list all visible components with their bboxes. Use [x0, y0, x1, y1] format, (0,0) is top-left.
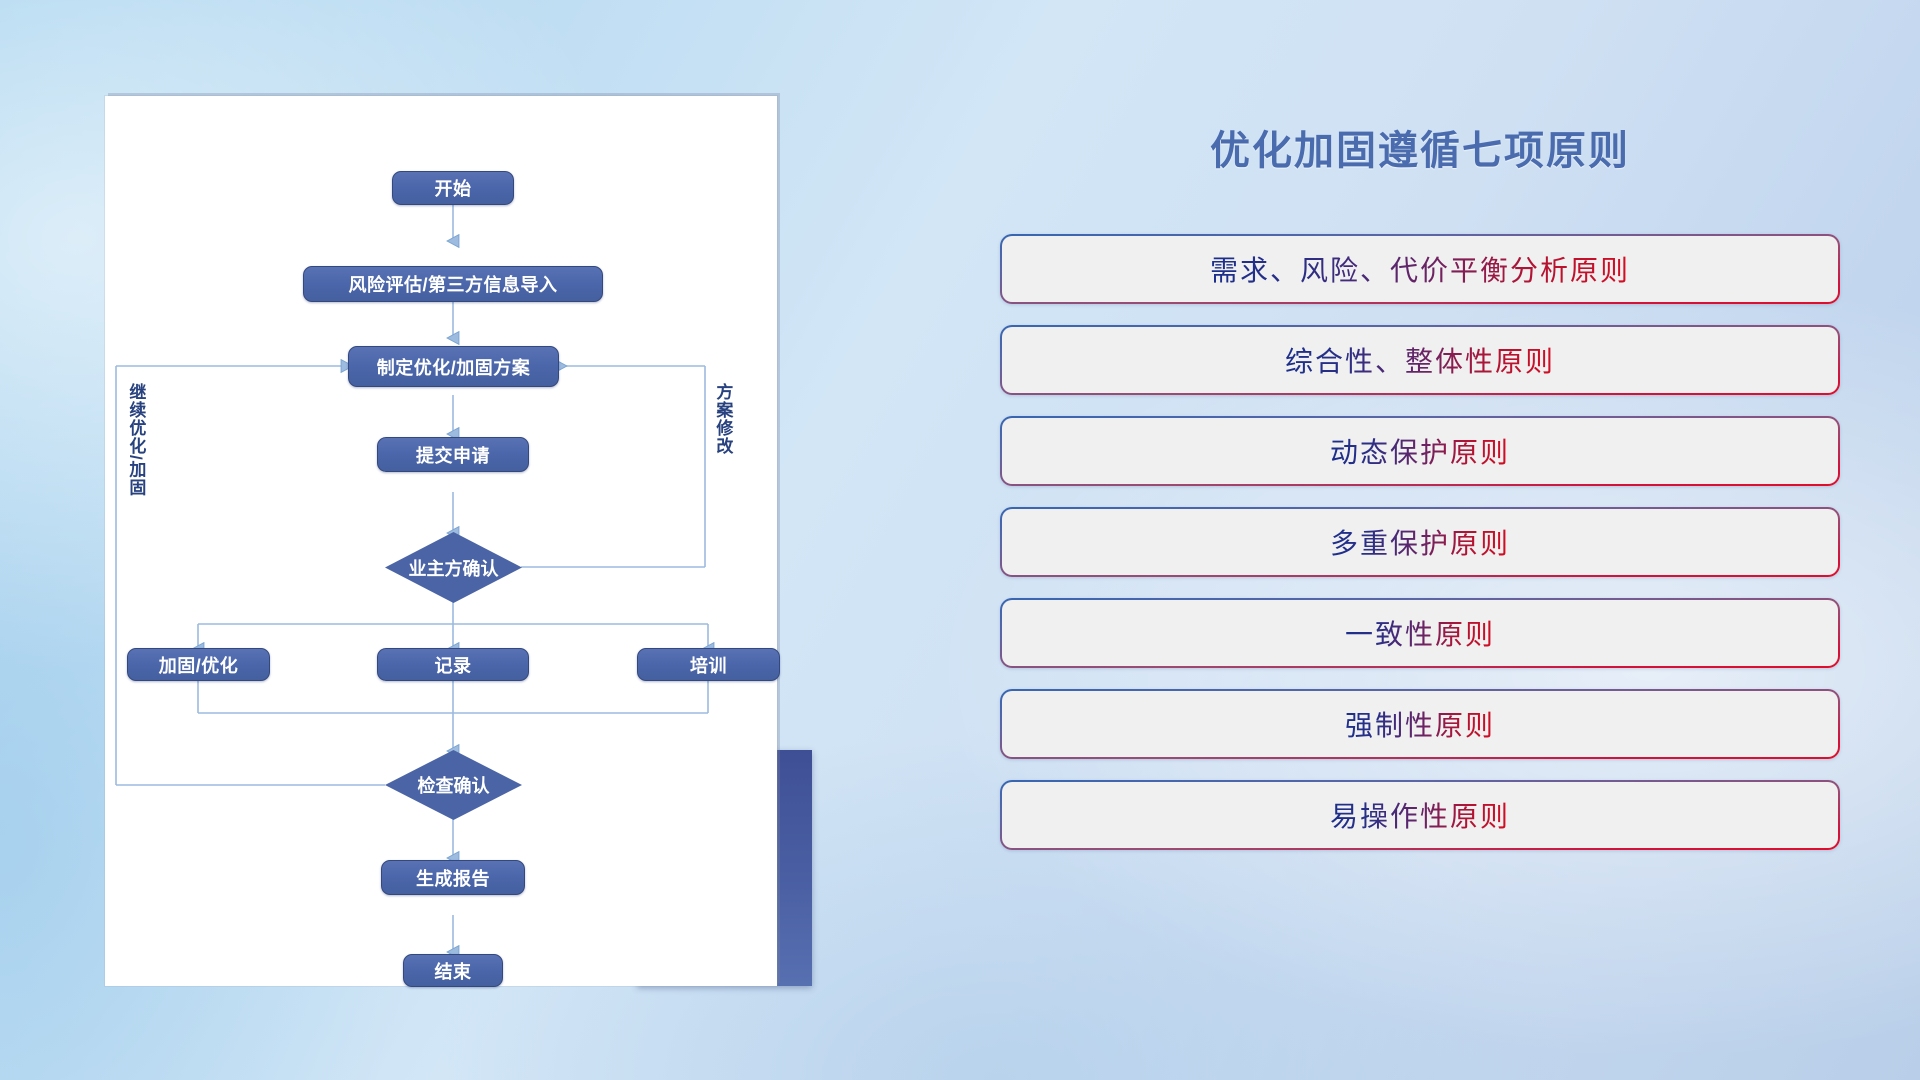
principle-card-inner: 动态保护原则	[1002, 418, 1838, 484]
flowchart-paper: 开始 风险评估/第三方信息导入 制定优化/加固方案 提交申请 业主方确认 加固/…	[105, 96, 777, 986]
principle-card[interactable]: 易操作性原则	[1000, 780, 1840, 850]
principles-list: 需求、风险、代价平衡分析原则 综合性、整体性原则 动态保护原则 多重保护原则	[1000, 234, 1840, 850]
principle-card[interactable]: 多重保护原则	[1000, 507, 1840, 577]
flow-node-risk-assessment-label: 风险评估/第三方信息导入	[349, 271, 558, 297]
principle-label: 需求、风险、代价平衡分析原则	[1210, 249, 1630, 289]
flow-edge-label-continue-optimize: 继续优化/加固	[127, 383, 144, 497]
panel-title: 优化加固遵循七项原则	[1000, 118, 1840, 176]
principle-label: 一致性原则	[1345, 613, 1495, 653]
flow-node-record[interactable]: 记录	[377, 648, 529, 681]
flow-node-make-plan[interactable]: 制定优化/加固方案	[348, 346, 559, 387]
slide-canvas: 开始 风险评估/第三方信息导入 制定优化/加固方案 提交申请 业主方确认 加固/…	[0, 0, 1920, 1080]
flow-decision-check-confirm-label: 检查确认	[418, 772, 490, 798]
principle-card[interactable]: 需求、风险、代价平衡分析原则	[1000, 234, 1840, 304]
flow-node-training-label: 培训	[690, 652, 727, 678]
flow-node-record-label: 记录	[435, 652, 472, 678]
flow-node-generate-report[interactable]: 生成报告	[381, 860, 525, 895]
flow-node-reinforce-optimize[interactable]: 加固/优化	[127, 648, 270, 681]
principle-card[interactable]: 一致性原则	[1000, 598, 1840, 668]
principle-label: 强制性原则	[1345, 704, 1495, 744]
flow-edge-label-plan-revision: 方案修改	[714, 383, 731, 455]
principle-card[interactable]: 动态保护原则	[1000, 416, 1840, 486]
principle-card-inner: 多重保护原则	[1002, 509, 1838, 575]
flow-decision-owner-confirm[interactable]: 业主方确认	[385, 532, 522, 603]
flow-node-end[interactable]: 结束	[403, 954, 503, 987]
flow-node-start[interactable]: 开始	[392, 171, 514, 205]
principle-card[interactable]: 综合性、整体性原则	[1000, 325, 1840, 395]
flow-node-submit-application-label: 提交申请	[416, 442, 490, 468]
principle-label: 多重保护原则	[1330, 522, 1510, 562]
flow-node-submit-application[interactable]: 提交申请	[377, 437, 529, 472]
flow-node-risk-assessment[interactable]: 风险评估/第三方信息导入	[303, 266, 603, 302]
flow-node-generate-report-label: 生成报告	[416, 865, 490, 891]
flow-node-end-label: 结束	[435, 958, 472, 984]
flowchart: 开始 风险评估/第三方信息导入 制定优化/加固方案 提交申请 业主方确认 加固/…	[105, 96, 777, 986]
flow-decision-owner-confirm-label: 业主方确认	[409, 555, 499, 581]
principle-card[interactable]: 强制性原则	[1000, 689, 1840, 759]
flow-decision-check-confirm[interactable]: 检查确认	[385, 750, 522, 820]
principle-label: 易操作性原则	[1330, 795, 1510, 835]
principle-card-inner: 强制性原则	[1002, 691, 1838, 757]
flow-node-make-plan-label: 制定优化/加固方案	[377, 354, 531, 380]
flow-node-reinforce-optimize-label: 加固/优化	[159, 652, 239, 678]
principle-card-inner: 综合性、整体性原则	[1002, 327, 1838, 393]
principles-panel: 优化加固遵循七项原则 需求、风险、代价平衡分析原则 综合性、整体性原则 动态保护…	[1000, 96, 1840, 1016]
principle-card-inner: 一致性原则	[1002, 600, 1838, 666]
flow-node-training[interactable]: 培训	[637, 648, 780, 681]
flow-node-start-label: 开始	[435, 175, 472, 201]
principle-card-inner: 需求、风险、代价平衡分析原则	[1002, 236, 1838, 302]
principle-label: 综合性、整体性原则	[1285, 340, 1555, 380]
principle-label: 动态保护原则	[1330, 431, 1510, 471]
principle-card-inner: 易操作性原则	[1002, 782, 1838, 848]
